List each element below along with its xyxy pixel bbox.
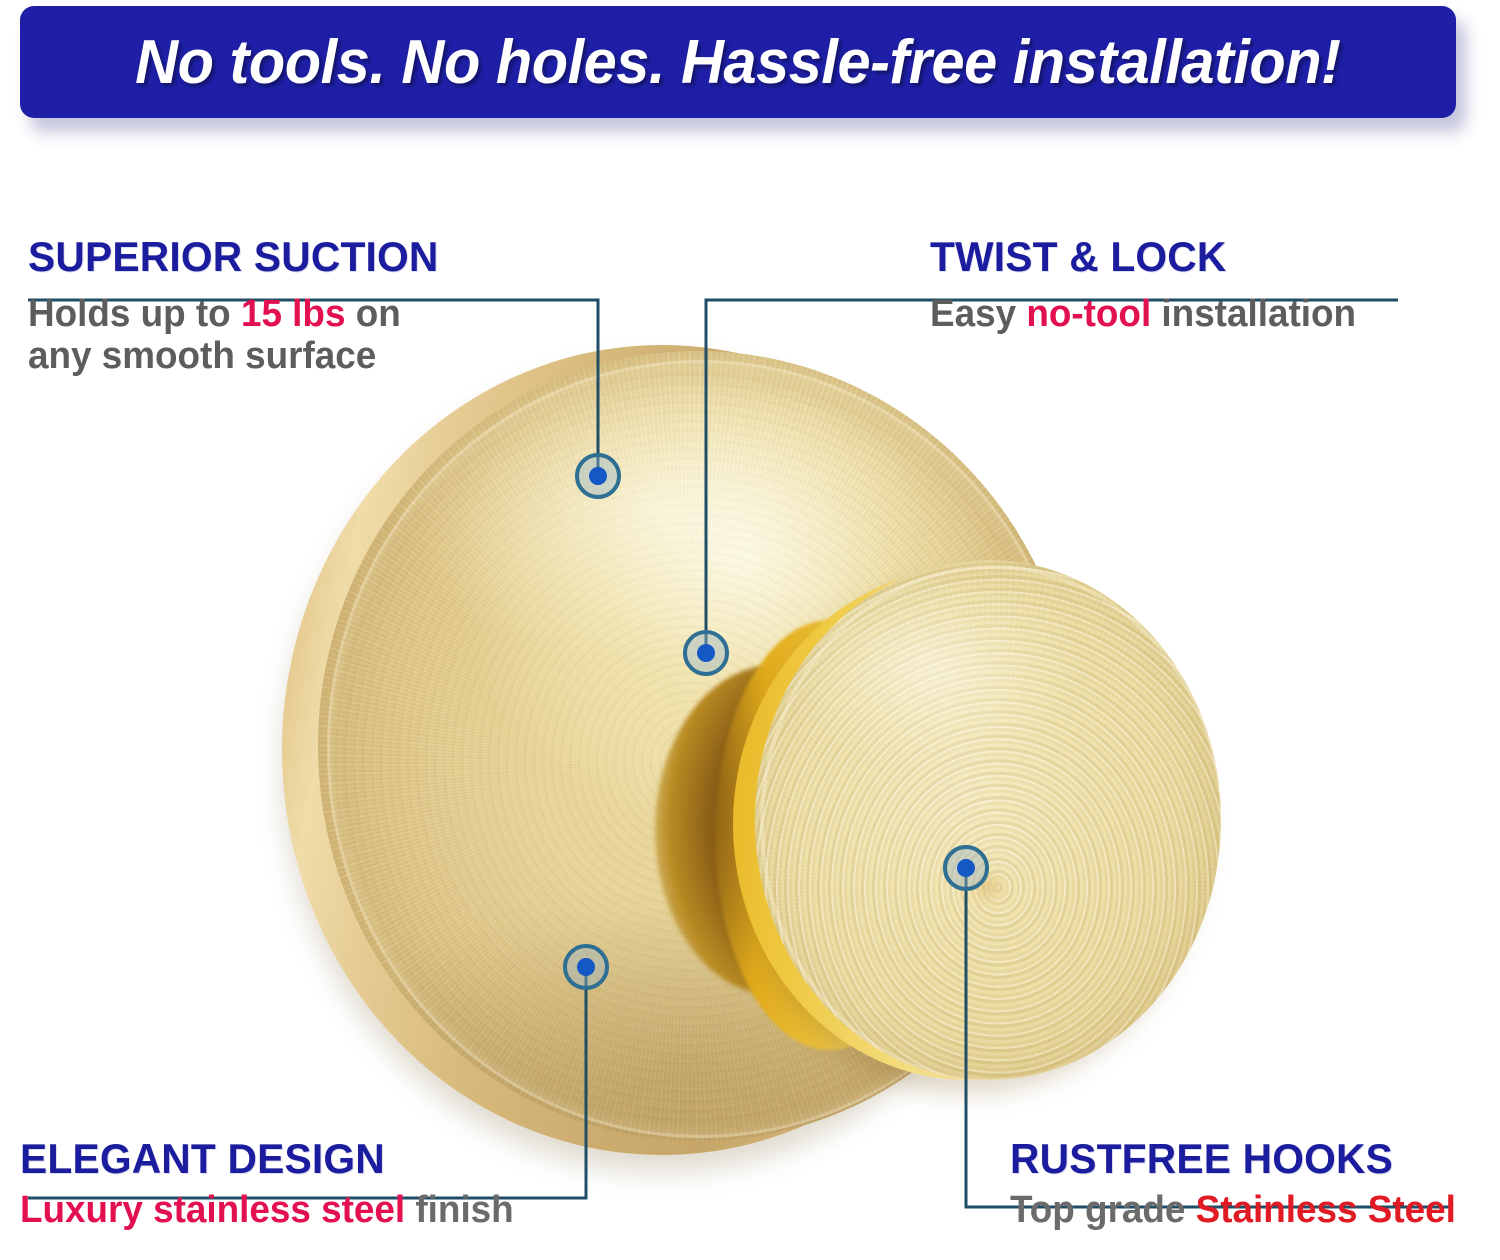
callout-body-elegant-design: Luxury stainless steel finish [20, 1189, 641, 1232]
marker-dot-icon [589, 467, 607, 485]
callout-title-elegant-design: ELEGANT DESIGN [20, 1138, 641, 1181]
callout-highlight-luxury-steel: Luxury stainless steel [20, 1189, 405, 1231]
concentric-ring-texture [333, 367, 1063, 1125]
callout-highlight-stainless-steel: Stainless Steel [1196, 1189, 1456, 1231]
front-knob-cap [733, 560, 1223, 1090]
callout-body-twist-and-lock: Easy no-tool installation [930, 293, 1454, 336]
suction-base-disc [282, 345, 1082, 1155]
knob-concentric-texture [755, 560, 1221, 1080]
callout-superior-suction: SUPERIOR SUCTION Holds up to 15 lbs on a… [28, 236, 648, 378]
disc-outer-rim [282, 345, 1042, 1155]
headline-banner-text: No tools. No holes. Hassle-free installa… [135, 27, 1340, 98]
callout-body-superior-suction: Holds up to 15 lbs on any smooth surface [28, 293, 629, 378]
headline-banner: No tools. No holes. Hassle-free installa… [20, 6, 1456, 118]
recessed-neck-shadow [655, 665, 895, 995]
marker-dot-icon [577, 958, 595, 976]
callout-twist-and-lock: TWIST & LOCK Easy no-tool installation [930, 236, 1470, 335]
marker-dot-icon [697, 644, 715, 662]
disc-bevel-edge [327, 360, 1075, 1137]
callout-body-rustfree-hooks: Top grade Stainless Steel [1010, 1189, 1466, 1232]
disc-lower-shadow [348, 793, 1047, 1141]
callout-highlight-no-tool: no-tool [1026, 293, 1151, 335]
brushed-metal-texture [318, 351, 1078, 1141]
callout-body-text-line2: any smooth surface [28, 335, 376, 377]
knob-front-face [755, 560, 1221, 1080]
callout-leader-lines [0, 0, 1500, 1260]
callout-title-rustfree-hooks: RUSTFREE HOOKS [1010, 1138, 1466, 1181]
disc-highlight-gloss [379, 375, 941, 707]
callout-body-text-post: on [345, 293, 400, 335]
neck-collar-highlight [715, 620, 945, 1050]
callout-body-text-pre: Holds up to [28, 293, 241, 335]
knob-bevel-edge [760, 565, 1221, 1080]
callout-rustfree-hooks: RUSTFREE HOOKS Top grade Stainless Steel [1010, 1138, 1480, 1231]
callout-title-superior-suction: SUPERIOR SUCTION [28, 236, 629, 279]
knob-highlight-gloss [783, 581, 1091, 789]
infographic-canvas: No tools. No holes. Hassle-free installa… [0, 0, 1500, 1260]
callout-highlight-weight: 15 lbs [241, 293, 346, 335]
knob-swirl-texture [755, 560, 1221, 1080]
callout-title-twist-and-lock: TWIST & LOCK [930, 236, 1454, 279]
callout-elegant-design: ELEGANT DESIGN Luxury stainless steel fi… [20, 1138, 660, 1231]
disc-front-face [318, 351, 1078, 1141]
marker-dot-icon [957, 859, 975, 877]
knob-side-wall [733, 568, 1203, 1080]
callout-body-text-pre: Top grade [1010, 1189, 1196, 1231]
callout-body-text-post: installation [1151, 293, 1356, 335]
product-image-gold-suction-hook [0, 0, 1500, 1260]
callout-body-text-post: finish [405, 1189, 514, 1231]
callout-body-text-pre: Easy [930, 293, 1026, 335]
leader-line-twist-lock [706, 300, 1398, 653]
